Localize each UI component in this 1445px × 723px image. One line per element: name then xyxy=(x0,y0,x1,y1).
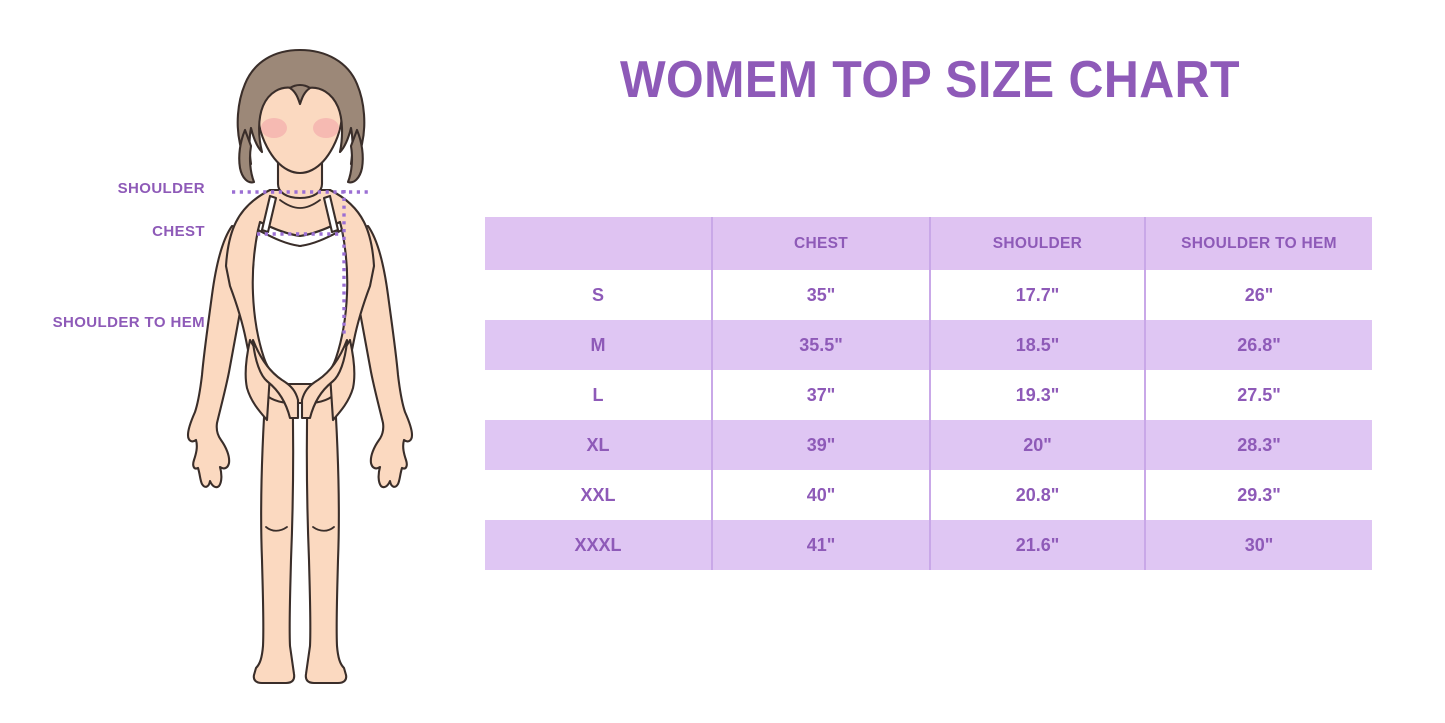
cell-chest: 35" xyxy=(712,270,930,320)
cell-shoulder: 20" xyxy=(930,420,1145,470)
cell-shoulder-to-hem: 26" xyxy=(1145,270,1372,320)
cell-chest: 37" xyxy=(712,370,930,420)
blush-right xyxy=(313,118,339,138)
cell-size: S xyxy=(485,270,712,320)
size-chart-table: CHEST SHOULDER SHOULDER TO HEM S 35" 17.… xyxy=(485,217,1372,570)
cell-shoulder: 19.3" xyxy=(930,370,1145,420)
cell-size: M xyxy=(485,320,712,370)
size-chart-page: WOMEM TOP SIZE CHART SHOULDER CHEST SHOU… xyxy=(0,0,1445,723)
table-row: XL 39" 20" 28.3" xyxy=(485,420,1372,470)
column-header-size xyxy=(485,217,712,270)
table-row: XXXL 41" 21.6" 30" xyxy=(485,520,1372,570)
cell-chest: 41" xyxy=(712,520,930,570)
cell-size: L xyxy=(485,370,712,420)
cell-chest: 40" xyxy=(712,470,930,520)
cell-shoulder-to-hem: 28.3" xyxy=(1145,420,1372,470)
cell-shoulder-to-hem: 26.8" xyxy=(1145,320,1372,370)
cell-shoulder-to-hem: 29.3" xyxy=(1145,470,1372,520)
female-body-illustration: .sk { fill:#FBD9C0; stroke:#3A2E2A; stro… xyxy=(150,40,450,690)
cell-chest: 39" xyxy=(712,420,930,470)
column-header-shoulder-to-hem: SHOULDER TO HEM xyxy=(1145,217,1372,270)
page-title: WOMEM TOP SIZE CHART xyxy=(502,50,1358,110)
column-header-chest: CHEST xyxy=(712,217,930,270)
cell-shoulder-to-hem: 27.5" xyxy=(1145,370,1372,420)
cell-shoulder: 17.7" xyxy=(930,270,1145,320)
cell-shoulder: 21.6" xyxy=(930,520,1145,570)
table-row: XXL 40" 20.8" 29.3" xyxy=(485,470,1372,520)
cell-size: XL xyxy=(485,420,712,470)
column-header-shoulder: SHOULDER xyxy=(930,217,1145,270)
cell-chest: 35.5" xyxy=(712,320,930,370)
table-row: L 37" 19.3" 27.5" xyxy=(485,370,1372,420)
cell-shoulder-to-hem: 30" xyxy=(1145,520,1372,570)
blush-left xyxy=(261,118,287,138)
cell-shoulder: 20.8" xyxy=(930,470,1145,520)
cell-size: XXL xyxy=(485,470,712,520)
table-row: M 35.5" 18.5" 26.8" xyxy=(485,320,1372,370)
table-row: S 35" 17.7" 26" xyxy=(485,270,1372,320)
table-header-row: CHEST SHOULDER SHOULDER TO HEM xyxy=(485,217,1372,270)
cell-shoulder: 18.5" xyxy=(930,320,1145,370)
cell-size: XXXL xyxy=(485,520,712,570)
